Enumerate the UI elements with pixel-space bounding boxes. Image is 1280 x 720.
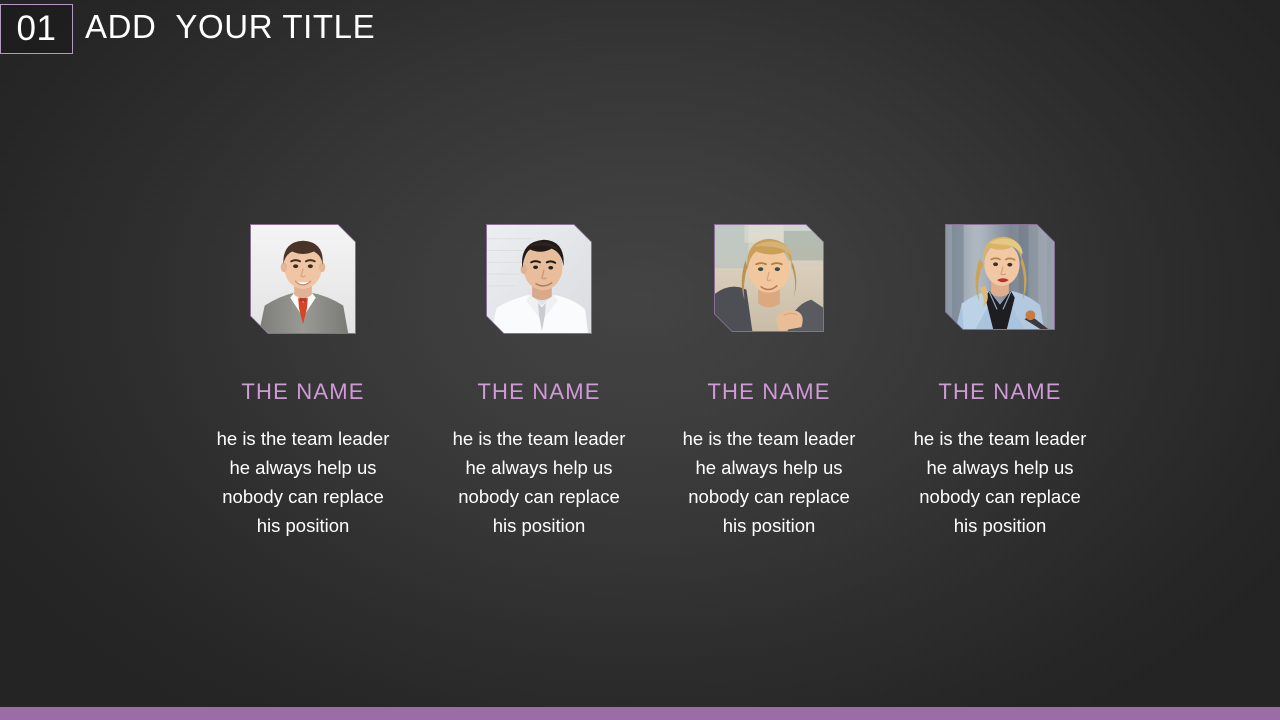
member-description: he is the team leader he always help us … [200, 424, 406, 540]
member-photo-frame[interactable] [250, 224, 356, 334]
member-name: THE NAME [436, 381, 642, 403]
member-name: THE NAME [897, 381, 1103, 403]
member-photo-2 [487, 225, 591, 333]
member-photo-3 [715, 225, 823, 331]
team-member-list: THE NAME he is the team leader he always… [0, 0, 1280, 720]
team-member-card: THE NAME he is the team leader he always… [436, 224, 642, 540]
member-photo-frame[interactable] [486, 224, 592, 334]
slide-canvas: 01 ADD YOUR TITLE [0, 0, 1280, 720]
member-photo-frame[interactable] [714, 224, 824, 332]
member-photo-frame[interactable] [945, 224, 1055, 330]
member-photo-1 [251, 225, 355, 333]
footer-accent-bar [0, 707, 1280, 720]
member-description: he is the team leader he always help us … [436, 424, 642, 540]
member-description: he is the team leader he always help us … [897, 424, 1103, 540]
member-name: THE NAME [200, 381, 406, 403]
team-member-card: THE NAME he is the team leader he always… [897, 224, 1103, 540]
member-name: THE NAME [666, 381, 872, 403]
member-photo-4 [946, 225, 1054, 329]
team-member-card: THE NAME he is the team leader he always… [200, 224, 406, 540]
member-description: he is the team leader he always help us … [666, 424, 872, 540]
team-member-card: THE NAME he is the team leader he always… [666, 224, 872, 540]
